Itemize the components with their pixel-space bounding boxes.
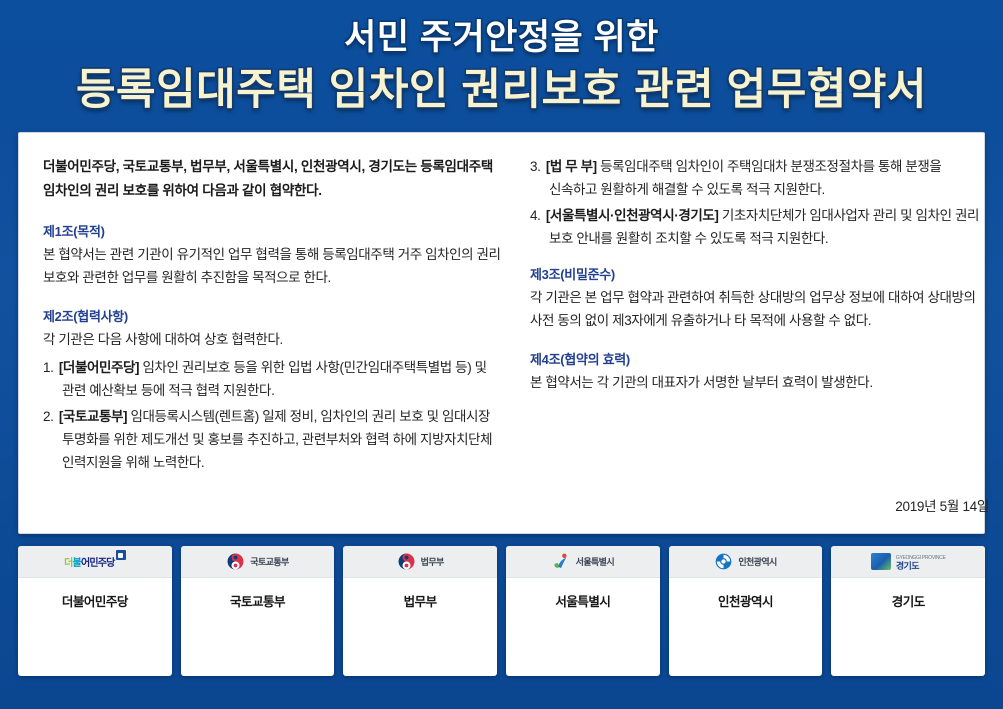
item-organization-tag: [국토교통부]: [59, 409, 127, 424]
item-organization-tag: [법 무 부]: [546, 159, 597, 174]
document-column-right: 3. [법 무 부] 등록임대주택 임차인이 주택임대차 분쟁조정절차를 통해 …: [530, 155, 991, 517]
card-logo-header: GYEONGGI PROVINCE 경기도: [831, 546, 985, 578]
document-column-left: 더불어민주당, 국토교통부, 법무부, 서울특별시, 인천광역시, 경기도는 등…: [43, 155, 504, 517]
card-logo-header: 국토교통부: [181, 546, 335, 578]
article-1-body: 본 협약서는 관련 기관이 유기적인 업무 협력을 통해 등록임대주택 거주 임…: [43, 243, 504, 289]
card-organization-name: 법무부: [343, 578, 497, 610]
signature-area[interactable]: [669, 610, 823, 676]
democratic-party-logo-icon: 더불어민주당: [64, 554, 125, 569]
signature-card-incheon: 인천광역시 인천광역시: [669, 546, 823, 676]
article-4-heading: 제4조(협약의 효력): [530, 349, 991, 370]
article-2-item-list-continued: 3. [법 무 부] 등록임대주택 임차인이 주택임대차 분쟁조정절차를 통해 …: [530, 155, 991, 250]
signing-date: 2019년 5월 14일: [895, 495, 989, 515]
item-number: 4.: [530, 208, 540, 223]
card-organization-name: 인천광역시: [669, 578, 823, 610]
seoul-city-logo-icon: [552, 552, 571, 571]
poster-title: 서민 주거안정을 위한 등록임대주택 임차인 권리보호 관련 업무협약서: [0, 0, 1003, 132]
signature-area[interactable]: [506, 610, 660, 676]
title-line-1: 서민 주거안정을 위한: [0, 16, 1003, 60]
card-logo-header: 인천광역시: [669, 546, 823, 578]
card-organization-name: 더불어민주당: [18, 578, 172, 610]
article-4: 제4조(협약의 효력) 본 협약서는 각 기관의 대표자가 서명한 날부터 효력…: [530, 349, 991, 394]
signature-area[interactable]: [18, 610, 172, 676]
card-logo-label: 국토교통부: [250, 555, 288, 568]
list-item: 3. [법 무 부] 등록임대주택 임차인이 주택임대차 분쟁조정절차를 통해 …: [530, 155, 991, 201]
agreement-poster: 서민 주거안정을 위한 등록임대주택 임차인 권리보호 관련 업무협약서 더불어…: [0, 0, 1003, 709]
card-logo-header: 더불어민주당: [18, 546, 172, 578]
card-organization-name: 서울특별시: [506, 578, 660, 610]
article-2-heading: 제2조(협력사항): [43, 306, 504, 327]
signature-card-row: 더불어민주당 더불어민주당 국토교통부 국토교통부: [18, 546, 985, 676]
card-organization-name: 국토교통부: [181, 578, 335, 610]
item-number: 2.: [43, 409, 53, 424]
article-1: 제1조(목적) 본 협약서는 관련 기관이 유기적인 업무 협력을 통해 등록임…: [43, 221, 504, 289]
card-logo-header: 법무부: [343, 546, 497, 578]
card-logo-label: 인천광역시: [738, 555, 776, 568]
list-item: 4. [서울특별시·인천광역시·경기도] 기초자치단체가 임대사업자 관리 및 …: [530, 204, 991, 250]
gyeonggi-province-logo-icon: [871, 553, 891, 570]
article-4-body: 본 협약서는 각 기관의 대표자가 서명한 날부터 효력이 발생한다.: [530, 371, 991, 394]
article-3-body: 각 기관은 본 업무 협약과 관련하여 취득한 상대방의 업무상 정보에 대하여…: [530, 286, 991, 332]
item-number: 1.: [43, 360, 53, 375]
taegeuk-government-logo-icon: [226, 552, 245, 571]
card-logo-label: 서울특별시: [576, 555, 614, 568]
article-2-body: 각 기관은 다음 사항에 대하여 상호 협력한다.: [43, 328, 504, 351]
signature-card-molit: 국토교통부 국토교통부: [181, 546, 335, 676]
item-number: 3.: [530, 159, 540, 174]
article-2-item-list: 1. [더불어민주당] 임차인 권리보호 등을 위한 입법 사항(민간임대주택특…: [43, 356, 504, 474]
item-text: 임대등록시스템(렌트홈) 일제 정비, 임차인의 권리 보호 및 임대시장 투명…: [62, 409, 492, 470]
signature-area[interactable]: [181, 610, 335, 676]
signature-area[interactable]: [343, 610, 497, 676]
item-organization-tag: [서울특별시·인천광역시·경기도]: [546, 208, 719, 223]
article-3-heading: 제3조(비밀준수): [530, 264, 991, 285]
list-item: 1. [더불어민주당] 임차인 권리보호 등을 위한 입법 사항(민간임대주택특…: [43, 356, 504, 402]
article-3: 제3조(비밀준수) 각 기관은 본 업무 협약과 관련하여 취득한 상대방의 업…: [530, 264, 991, 332]
incheon-city-logo-icon: [714, 552, 733, 571]
card-organization-name: 경기도: [831, 578, 985, 610]
list-item: 2. [국토교통부] 임대등록시스템(렌트홈) 일제 정비, 임차인의 권리 보…: [43, 405, 504, 474]
agreement-document-panel: 더불어민주당, 국토교통부, 법무부, 서울특별시, 인천광역시, 경기도는 등…: [18, 132, 985, 534]
item-organization-tag: [더불어민주당]: [59, 360, 139, 375]
taegeuk-government-logo-icon: [397, 552, 416, 571]
title-line-2: 등록임대주택 임차인 권리보호 관련 업무협약서: [0, 62, 1003, 118]
signature-card-moj: 법무부 법무부: [343, 546, 497, 676]
card-logo-label: 법무부: [421, 555, 444, 568]
article-2: 제2조(협력사항) 각 기관은 다음 사항에 대하여 상호 협력한다. 1. […: [43, 306, 504, 474]
signature-card-gyeonggi: GYEONGGI PROVINCE 경기도 경기도: [831, 546, 985, 676]
signature-card-seoul: 서울특별시 서울특별시: [506, 546, 660, 676]
card-logo-label: 경기도: [896, 562, 946, 570]
card-logo-header: 서울특별시: [506, 546, 660, 578]
signature-area[interactable]: [831, 610, 985, 676]
article-1-heading: 제1조(목적): [43, 221, 504, 242]
item-text: 등록임대주택 임차인이 주택임대차 분쟁조정절차를 통해 분쟁을 신속하고 원활…: [549, 159, 941, 197]
signature-card-democratic-party: 더불어민주당 더불어민주당: [18, 546, 172, 676]
agreement-intro-paragraph: 더불어민주당, 국토교통부, 법무부, 서울특별시, 인천광역시, 경기도는 등…: [43, 155, 504, 203]
